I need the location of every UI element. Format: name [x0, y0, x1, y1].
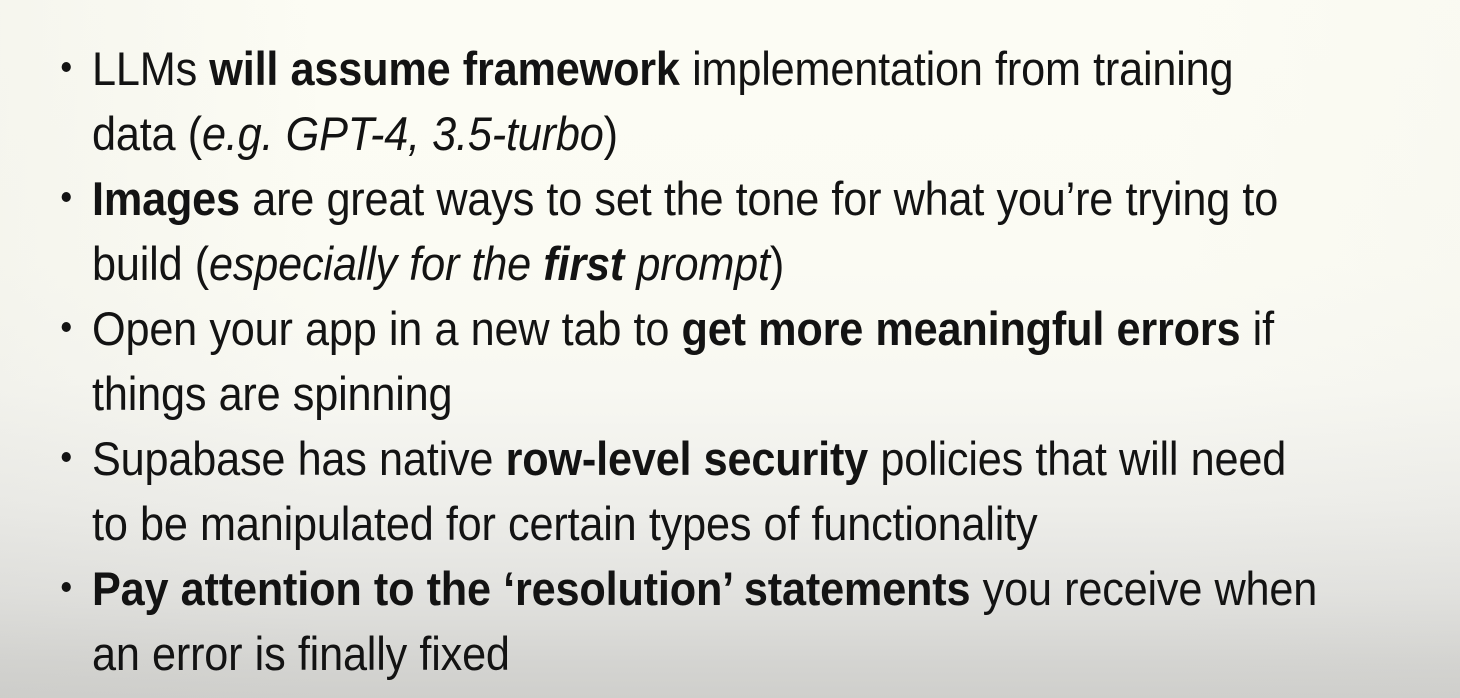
text-run: Images: [92, 172, 240, 225]
bullet-text: Images are great ways to set the tone fo…: [92, 172, 1278, 290]
bullet-text: Open your app in a new tab to get more m…: [92, 302, 1274, 420]
slide-canvas: LLMs will assume framework implementatio…: [0, 0, 1460, 698]
bullet-text: Supabase has native row-level security p…: [92, 432, 1286, 550]
text-run: Open your app in a new tab to: [92, 302, 682, 355]
text-run: ): [604, 107, 618, 160]
bullet-text: LLMs will assume framework implementatio…: [92, 42, 1233, 160]
bullet-point-icon: [62, 582, 71, 592]
bullet-text: Pay attention to the ‘resolution’ statem…: [92, 562, 1317, 680]
bullet-item: LLMs will assume framework implementatio…: [0, 36, 1343, 166]
bullet-item: Pay attention to the ‘resolution’ statem…: [0, 556, 1343, 686]
bullet-item: Open your app in a new tab to get more m…: [0, 296, 1343, 426]
text-run: row-level security: [506, 432, 868, 485]
bullet-point-icon: [62, 192, 71, 202]
bullet-point-icon: [62, 452, 71, 462]
text-run: first: [543, 237, 624, 290]
bullet-list: LLMs will assume framework implementatio…: [0, 36, 1460, 686]
bullet-item: Supabase has native row-level security p…: [0, 426, 1343, 556]
text-run: Pay attention to the ‘resolution’ statem…: [92, 562, 970, 615]
bullet-item: Images are great ways to set the tone fo…: [0, 166, 1343, 296]
text-run: e.g. GPT-4, 3.5-turbo: [202, 107, 604, 160]
text-run: will assume framework: [209, 42, 680, 95]
text-run: get more meaningful errors: [682, 302, 1241, 355]
bullet-point-icon: [62, 62, 71, 72]
text-run: especially for the: [209, 237, 543, 290]
text-run: prompt: [624, 237, 770, 290]
text-run: Supabase has native: [92, 432, 506, 485]
text-run: ): [770, 237, 784, 290]
bullet-point-icon: [62, 322, 71, 332]
text-run: LLMs: [92, 42, 209, 95]
